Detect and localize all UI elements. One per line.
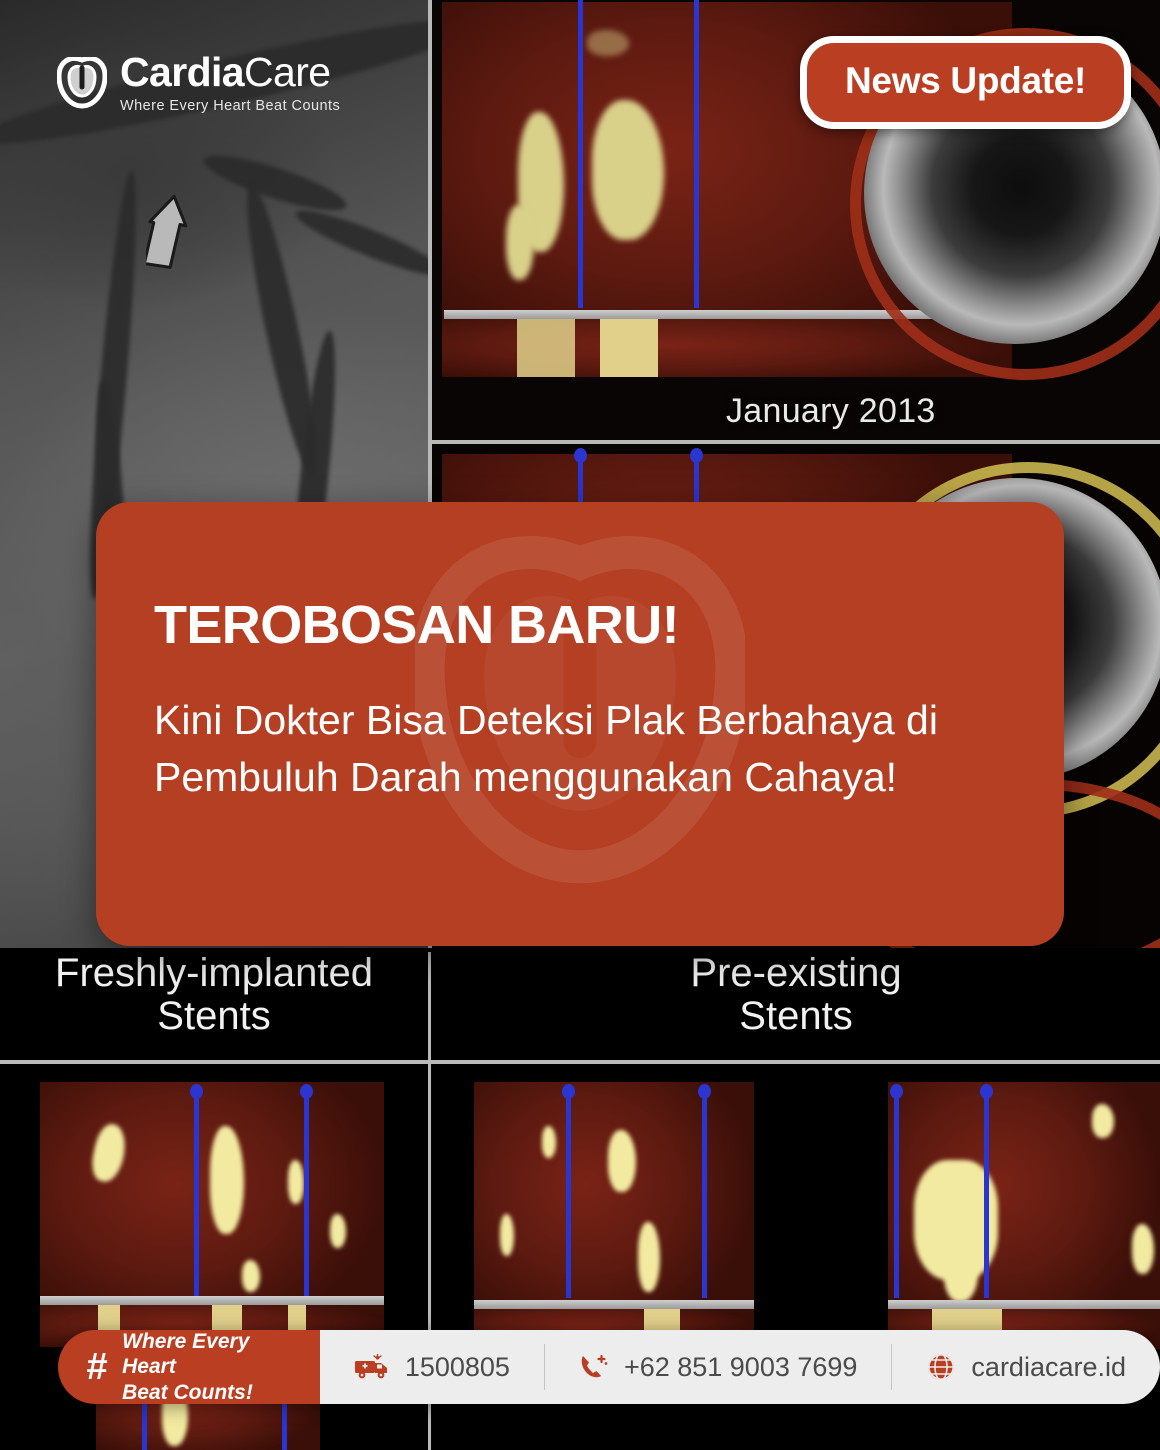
contact-website[interactable]: cardiacare.id [891,1344,1160,1390]
contact-phone-value: +62 851 9003 7699 [624,1352,857,1383]
column-label-left: Freshly-implanted Stents [0,952,428,1038]
footer-contacts: 1500805 +62 851 9003 7699 card [320,1330,1160,1404]
logo-tagline: Where Every Heart Beat Counts [120,99,340,114]
panel-divider-horizontal-lower [0,1060,1160,1064]
column-label-left-line1: Freshly-implanted [0,952,428,995]
ambulance-icon [354,1354,390,1380]
brand-logo: CardiaCare Where Every Heart Beat Counts [57,52,340,114]
contact-website-value: cardiacare.id [971,1352,1126,1383]
phone-plus-icon [579,1353,609,1381]
globe-icon [926,1352,956,1382]
timestamp-caption: January 2013 [726,392,936,431]
arrow-pointer-icon [146,192,192,270]
column-label-right: Pre-existing Stents [432,952,1160,1038]
footer-tagline-line1: Where Every Heart [122,1330,249,1379]
footer-contact-bar: # Where Every Heart Beat Counts! [58,1330,1160,1404]
column-label-right-line2: Stents [432,995,1160,1038]
poster-canvas: January 2013 Freshly-implanted Stents Pr… [0,0,1160,1450]
panel-divider-vertical-labels [428,952,431,1062]
panel-divider-horizontal [432,440,1160,444]
footer-tagline-line2: Beat Counts! [122,1381,253,1404]
footer-tagline-pill: # Where Every Heart Beat Counts! [58,1330,320,1404]
contact-hotline-value: 1500805 [405,1352,510,1383]
card-headline: TEROBOSAN BARU! [154,594,1008,656]
news-update-badge[interactable]: News Update! [800,36,1131,129]
contact-phone[interactable]: +62 851 9003 7699 [544,1344,891,1390]
heart-shield-logo-icon [57,57,107,109]
headline-card: TEROBOSAN BARU! Kini Dokter Bisa Deteksi… [96,502,1064,946]
logo-name-bold: Cardia [120,49,244,95]
contact-hotline[interactable]: 1500805 [320,1344,544,1390]
column-label-right-line1: Pre-existing [432,952,1160,995]
hashtag-icon: # [86,1348,107,1386]
column-label-left-line2: Stents [0,995,428,1038]
card-body: Kini Dokter Bisa Deteksi Plak Berbahaya … [154,692,1008,807]
logo-name-light: Care [244,49,330,95]
